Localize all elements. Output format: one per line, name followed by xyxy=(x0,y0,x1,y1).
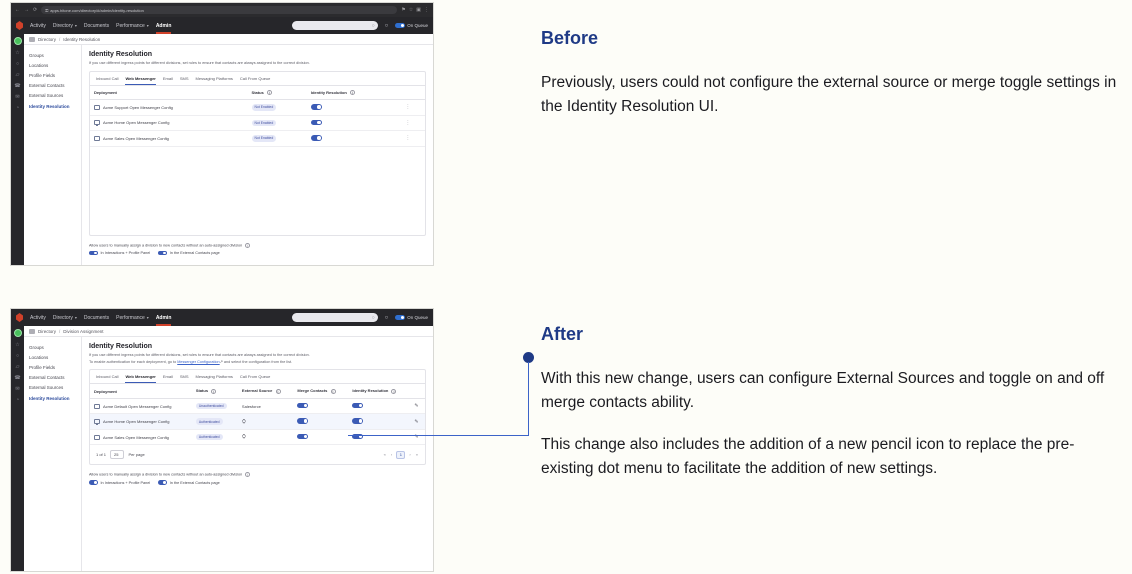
toggle-label: In the External Contacts page xyxy=(170,481,220,485)
external-source-value: Salesforce xyxy=(242,404,261,409)
first-page-button[interactable]: « xyxy=(383,452,387,457)
sidebar-item-identity-resolution[interactable]: Identity Resolution xyxy=(29,393,81,403)
chevron-down-icon: ▾ xyxy=(75,23,77,28)
breadcrumb-current: Division Assignment xyxy=(63,329,103,334)
deployment-cell: Acme Home Open Messenger Config xyxy=(94,419,188,424)
deployment-name: Acme Sales Open Messenger Config xyxy=(103,435,169,440)
app-logo-icon[interactable] xyxy=(16,21,23,30)
nav-label: Performance xyxy=(116,23,145,29)
external-source-icon: ⛭ xyxy=(242,419,246,425)
footer-note-text: Allow users to manually assign a divisio… xyxy=(89,472,426,477)
callout-line-horizontal xyxy=(348,435,529,436)
browser-forward-icon[interactable]: → xyxy=(24,8,29,13)
left-icon-rail-before: ☆ ○ ▱ ☎ ✉ ◔ xyxy=(11,34,24,265)
info-icon[interactable]: i xyxy=(211,389,216,394)
col-deployment: Deployment xyxy=(90,384,192,398)
sidebar-item-locations[interactable]: Locations xyxy=(29,352,81,362)
shield-icon[interactable]: ⚑ xyxy=(401,8,405,13)
folder-icon[interactable]: ▱ xyxy=(16,365,20,370)
circle-icon[interactable]: ○ xyxy=(16,354,19,359)
page-size-select[interactable]: 25 xyxy=(110,450,124,459)
sidebar-item-profile-fields[interactable]: Profile Fields xyxy=(29,70,81,80)
cell-merge-contacts xyxy=(293,398,348,414)
table-empty-space xyxy=(90,147,425,235)
breadcrumb-before: Directory / Identity Resolution xyxy=(24,34,433,45)
current-page-button[interactable]: 1 xyxy=(396,451,405,459)
identity-resolution-toggle[interactable] xyxy=(311,135,322,141)
cell-deployment: Acme Default Open Messenger Config xyxy=(90,398,192,414)
dot-menu-icon[interactable]: ⋮ xyxy=(405,104,410,110)
col-label: External Source xyxy=(242,388,272,393)
tab-email[interactable]: Email xyxy=(163,76,173,85)
globe-icon[interactable]: ◔ xyxy=(16,398,19,403)
status-badge: Authenticated xyxy=(196,418,223,424)
nav-label: Admin xyxy=(156,315,172,321)
table-row[interactable]: Acme Sales Open Messenger Config Not Ena… xyxy=(90,131,425,147)
presence-label: On Queue xyxy=(407,315,428,320)
info-icon[interactable]: i xyxy=(245,472,250,477)
sidebar-before: Groups Locations Profile Fields External… xyxy=(24,45,82,265)
after-heading: After xyxy=(541,324,1123,345)
messenger-icon xyxy=(94,419,100,424)
toggle-label: In Interactions + Profile Panel xyxy=(101,251,151,255)
before-heading: Before xyxy=(541,28,1123,49)
cell-external-source: Salesforce xyxy=(238,398,293,414)
col-label: Merge Contacts xyxy=(297,388,327,393)
callout-line-vertical xyxy=(528,362,529,436)
cell-status: Unauthenticated xyxy=(192,398,238,414)
dot-menu-icon[interactable]: ⋮ xyxy=(405,120,410,126)
main-before: Identity Resolution If you use different… xyxy=(82,45,433,265)
table-head: Deployment Status i Identity Resolution xyxy=(90,86,425,100)
sidebar-item-external-sources[interactable]: External Sources xyxy=(29,91,81,101)
chevron-down-icon: ▾ xyxy=(147,315,149,320)
sidebar-item-profile-fields[interactable]: Profile Fields xyxy=(29,362,81,372)
cell-deployment: Acme Sales Open Messenger Config xyxy=(90,429,192,445)
phone-icon[interactable]: ☎ xyxy=(14,376,20,381)
table-row[interactable]: Acme Home Open Messenger Config Not Enab… xyxy=(90,115,425,131)
col-status: Status i xyxy=(192,384,238,398)
col-status: Status i xyxy=(248,86,307,100)
deployment-cell: Acme Support Open Messenger Config xyxy=(94,105,244,110)
search-icon: ○ xyxy=(372,23,375,29)
messenger-icon xyxy=(94,105,100,110)
per-page-label: Per page xyxy=(128,452,144,457)
nav-item-documents[interactable]: Documents xyxy=(84,23,109,29)
nav-search-input[interactable]: ○ xyxy=(292,313,378,322)
slide-canvas: ← → ⟳ ⚿ apps.hitone.com/directory/#/admi… xyxy=(0,0,1132,574)
toggle-external-contacts-page[interactable]: In the External Contacts page xyxy=(158,480,220,485)
browser-toolbar-icons: ⚑ ☆ ▣ ⋮ xyxy=(401,8,429,13)
cell-deployment: Acme Home Open Messenger Config xyxy=(90,115,248,131)
avatar[interactable] xyxy=(14,329,22,337)
sidebar-item-external-contacts[interactable]: External Contacts xyxy=(29,373,81,383)
extension-icon[interactable]: ▣ xyxy=(416,8,421,13)
lower-before: Groups Locations Profile Fields External… xyxy=(24,45,433,265)
footer-note-text: Allow users to manually assign a divisio… xyxy=(89,243,426,248)
merge-contacts-toggle[interactable] xyxy=(297,434,308,440)
nav-label: Documents xyxy=(84,23,109,29)
messenger-icon xyxy=(94,435,100,440)
nav-search-input[interactable]: ○ xyxy=(292,21,378,30)
nav-label: Admin xyxy=(156,23,172,29)
desc-prefix: To enable authentication for each deploy… xyxy=(89,360,177,364)
message-icon[interactable]: ✉ xyxy=(15,95,19,100)
star-icon[interactable]: ☆ xyxy=(409,8,413,13)
status-badge: Not Enabled xyxy=(252,104,277,110)
browser-menu-icon[interactable]: ⋮ xyxy=(424,8,429,13)
tab-messaging-platforms[interactable]: Messaging Platforms xyxy=(196,374,233,383)
breadcrumb-after: Directory / Division Assignment xyxy=(24,326,433,337)
footer-toggle-row: In Interactions + Profile Panel In the E… xyxy=(89,480,426,485)
channel-tabs-before: Inbound Call Web Messenger Email SMS Mes… xyxy=(90,72,425,86)
star-icon[interactable]: ☆ xyxy=(15,51,19,56)
browser-address-bar[interactable]: ⚿ apps.hitone.com/directory/#/admin/iden… xyxy=(41,6,397,14)
info-icon[interactable]: i xyxy=(350,90,355,95)
grid-icon[interactable] xyxy=(29,37,35,42)
footer-note-after: Allow users to manually assign a divisio… xyxy=(89,472,426,485)
col-identity-resolution: Identity Resolution i xyxy=(307,86,402,100)
presence-status[interactable]: On Queue xyxy=(395,315,428,320)
tab-inbound-call[interactable]: Inbound Call xyxy=(96,374,118,383)
deployments-table-before: Deployment Status i Identity Resolution xyxy=(90,86,425,147)
deployment-cell: Acme Home Open Messenger Config xyxy=(94,120,244,125)
after-paragraph-2: This change also includes the addition o… xyxy=(541,433,1123,481)
status-badge: Authenticated xyxy=(196,434,223,440)
tab-web-messenger[interactable]: Web Messenger xyxy=(125,76,155,85)
globe-icon[interactable]: ◔ xyxy=(16,106,19,111)
nav-item-admin[interactable]: Admin xyxy=(156,315,172,321)
table-header-row: Deployment Status i Identity Resolution xyxy=(90,86,425,100)
cell-deployment: Acme Support Open Messenger Config xyxy=(90,100,248,116)
nav-label: Directory xyxy=(53,23,73,29)
desc-suffix: and select the configuration from the li… xyxy=(223,360,292,364)
sidebar-item-groups[interactable]: Groups xyxy=(29,342,81,352)
sidebar-item-external-contacts[interactable]: External Contacts xyxy=(29,81,81,91)
folder-icon[interactable]: ▱ xyxy=(16,73,20,78)
breadcrumb-root[interactable]: Directory xyxy=(38,329,56,334)
cell-status: Not Enabled xyxy=(248,115,307,131)
cell-external-source: ⛭ xyxy=(238,429,293,445)
status-badge: Unauthenticated xyxy=(196,403,227,409)
info-icon[interactable]: i xyxy=(267,90,272,95)
prev-page-button[interactable]: ‹ xyxy=(390,452,393,457)
notifications-bell-icon[interactable]: ○ xyxy=(385,315,389,321)
message-icon[interactable]: ✉ xyxy=(15,387,19,392)
toggle-interactions-profile-panel[interactable]: In Interactions + Profile Panel xyxy=(89,251,150,256)
sidebar-item-groups[interactable]: Groups xyxy=(29,50,81,60)
browser-url-text: apps.hitone.com/directory/#/admin/identi… xyxy=(50,8,144,13)
cell-identity-resolution xyxy=(307,131,402,147)
nav-item-performance[interactable]: Performance ▾ xyxy=(116,315,149,321)
cell-status: Authenticated xyxy=(192,429,238,445)
deployment-name: Acme Home Open Messenger Config xyxy=(103,120,169,125)
merge-contacts-toggle[interactable] xyxy=(297,403,308,409)
before-body: Previously, users could not configure th… xyxy=(541,71,1123,119)
col-label: Status xyxy=(252,90,264,95)
phone-icon[interactable]: ☎ xyxy=(14,84,20,89)
toggle-icon[interactable] xyxy=(89,480,98,485)
nav-item-admin[interactable]: Admin xyxy=(156,23,172,29)
nav-item-performance[interactable]: Performance ▾ xyxy=(116,23,149,29)
deployment-name: Acme Support Open Messenger Config xyxy=(103,105,173,110)
col-label: Deployment xyxy=(94,389,117,394)
toggle-icon[interactable] xyxy=(158,251,167,256)
toggle-external-contacts-page[interactable]: In the External Contacts page xyxy=(158,251,220,256)
deployment-cell: Acme Default Open Messenger Config xyxy=(94,404,188,409)
presence-label: On Queue xyxy=(407,23,428,28)
external-source-icon: ⛭ xyxy=(242,434,246,440)
breadcrumb-separator: / xyxy=(59,37,60,42)
nav-item-documents[interactable]: Documents xyxy=(84,315,109,321)
cell-deployment: Acme Sales Open Messenger Config xyxy=(90,131,248,147)
footer-toggle-row: In Interactions + Profile Panel In the E… xyxy=(89,251,426,256)
col-label: Status xyxy=(196,388,208,393)
identity-resolution-toggle[interactable] xyxy=(311,120,322,126)
nav-label: Performance xyxy=(116,315,145,321)
chevron-down-icon: ▾ xyxy=(75,315,77,320)
cell-status: Authenticated xyxy=(192,414,238,430)
nav-label: Documents xyxy=(84,315,109,321)
before-annotation: Before Previously, users could not confi… xyxy=(541,28,1123,137)
cell-identity-resolution xyxy=(307,100,402,116)
cell-external-source: ⛭ xyxy=(238,414,293,430)
grid-icon[interactable] xyxy=(29,329,35,334)
cell-status: Not Enabled xyxy=(248,131,307,147)
circle-icon[interactable]: ○ xyxy=(16,62,19,67)
toggle-label: In Interactions + Profile Panel xyxy=(101,481,151,485)
footer-note-label: Allow users to manually assign a divisio… xyxy=(89,473,242,477)
pagination-range: 1 of 1 xyxy=(96,452,106,457)
tab-call-from-queue[interactable]: Call From Queue xyxy=(240,374,270,383)
cell-merge-contacts xyxy=(293,414,348,430)
deployment-name: Acme Default Open Messenger Config xyxy=(103,404,171,409)
info-icon[interactable]: i xyxy=(276,389,281,394)
cell-deployment: Acme Home Open Messenger Config xyxy=(90,414,192,430)
toggle-label: In the External Contacts page xyxy=(170,251,220,255)
messenger-icon xyxy=(94,404,100,409)
toggle-interactions-profile-panel[interactable]: In Interactions + Profile Panel xyxy=(89,480,150,485)
pagination-bar: 1 of 1 25 Per page « ‹ 1 › » xyxy=(90,445,425,464)
info-icon[interactable]: i xyxy=(331,389,336,394)
dot-menu-icon[interactable]: ⋮ xyxy=(405,135,410,141)
nav-item-directory[interactable]: Directory ▾ xyxy=(53,23,77,29)
sidebar-after: Groups Locations Profile Fields External… xyxy=(24,337,82,571)
toggle-icon[interactable] xyxy=(89,251,98,256)
cell-actions: ⋮ xyxy=(401,100,425,116)
next-page-button[interactable]: › xyxy=(408,452,411,457)
messenger-icon xyxy=(94,136,100,141)
star-icon[interactable]: ☆ xyxy=(15,343,19,348)
after-annotation: After With this new change, users can co… xyxy=(541,324,1123,499)
presence-toggle-icon[interactable] xyxy=(395,23,405,28)
col-label: Identity Resolution xyxy=(311,90,347,95)
presence-toggle-icon[interactable] xyxy=(395,315,405,320)
nav-label: Directory xyxy=(53,315,73,321)
tab-web-messenger[interactable]: Web Messenger xyxy=(125,374,155,383)
col-merge-contacts: Merge Contacts i xyxy=(293,384,348,398)
tab-email[interactable]: Email xyxy=(163,374,173,383)
deployment-name: Acme Home Open Messenger Config xyxy=(103,419,169,424)
browser-chrome: ← → ⟳ ⚿ apps.hitone.com/directory/#/admi… xyxy=(11,3,433,17)
nav-item-activity[interactable]: Activity xyxy=(30,315,46,321)
breadcrumb-root[interactable]: Directory xyxy=(38,37,56,42)
messenger-icon xyxy=(94,120,100,125)
last-page-button[interactable]: » xyxy=(415,452,419,457)
nav-item-activity[interactable]: Activity xyxy=(30,23,46,29)
deployment-cell: Acme Sales Open Messenger Config xyxy=(94,136,244,141)
status-badge: Not Enabled xyxy=(252,120,277,126)
app-logo-icon[interactable] xyxy=(16,313,23,322)
content-before: Directory / Identity Resolution Groups L… xyxy=(24,34,433,265)
messenger-configuration-link[interactable]: Messenger Configuration xyxy=(177,360,219,364)
presence-status[interactable]: On Queue xyxy=(395,23,428,28)
page-title: Identity Resolution xyxy=(89,51,426,58)
top-nav-before: Activity Directory ▾ Documents Performan… xyxy=(11,17,433,34)
cell-actions: ⋮ xyxy=(401,131,425,147)
top-nav-after: Activity Directory ▾ Documents Performan… xyxy=(11,309,433,326)
page-title: Identity Resolution xyxy=(89,343,426,350)
cell-actions: ⋮ xyxy=(401,115,425,131)
tab-inbound-call[interactable]: Inbound Call xyxy=(96,76,118,85)
tab-sms[interactable]: SMS xyxy=(180,374,189,383)
sidebar-item-identity-resolution[interactable]: Identity Resolution xyxy=(29,101,81,111)
tab-call-from-queue[interactable]: Call From Queue xyxy=(240,76,270,85)
deployment-cell: Acme Sales Open Messenger Config xyxy=(94,435,188,440)
table-body: Acme Support Open Messenger Config Not E… xyxy=(90,100,425,147)
after-screenshot: Activity Directory ▾ Documents Performan… xyxy=(10,308,434,572)
before-screenshot: ← → ⟳ ⚿ apps.hitone.com/directory/#/admi… xyxy=(10,2,434,266)
merge-contacts-toggle[interactable] xyxy=(297,418,308,424)
identity-resolution-toggle[interactable] xyxy=(311,104,322,110)
nav-label: Activity xyxy=(30,23,46,29)
nav-item-directory[interactable]: Directory ▾ xyxy=(53,315,77,321)
nav-label: Activity xyxy=(30,315,46,321)
lock-icon: ⚿ xyxy=(45,8,48,13)
pagination-controls: « ‹ 1 › » xyxy=(383,451,419,459)
left-icon-rail-after: ☆ ○ ▱ ☎ ✉ ◔ xyxy=(11,326,24,571)
cell-status: Not Enabled xyxy=(248,100,307,116)
col-actions xyxy=(401,86,425,100)
browser-back-icon[interactable]: ← xyxy=(15,8,20,13)
deployment-name: Acme Sales Open Messenger Config xyxy=(103,136,169,141)
tab-sms[interactable]: SMS xyxy=(180,76,189,85)
status-badge: Not Enabled xyxy=(252,135,277,141)
table-row[interactable]: Acme Support Open Messenger Config Not E… xyxy=(90,100,425,116)
after-paragraph-1: With this new change, users can configur… xyxy=(541,367,1123,415)
app-body-before: ☆ ○ ▱ ☎ ✉ ◔ Directory / Identity Resolut… xyxy=(11,34,433,265)
col-external-source: External Source i xyxy=(238,384,293,398)
cell-merge-contacts xyxy=(293,429,348,445)
footer-note-before: Allow users to manually assign a divisio… xyxy=(89,243,426,256)
col-deployment: Deployment xyxy=(90,86,248,100)
search-icon: ○ xyxy=(372,315,375,321)
col-label: Deployment xyxy=(94,90,117,95)
tab-messaging-platforms[interactable]: Messaging Platforms xyxy=(196,76,233,85)
page-description-line-1: If you use different ingress points for … xyxy=(89,61,426,67)
callout-connector xyxy=(348,352,534,436)
sidebar-item-external-sources[interactable]: External Sources xyxy=(29,383,81,393)
notifications-bell-icon[interactable]: ○ xyxy=(385,23,389,29)
chevron-down-icon: ▾ xyxy=(147,23,149,28)
toggle-icon[interactable] xyxy=(158,480,167,485)
info-icon[interactable]: i xyxy=(245,243,250,248)
browser-reload-icon[interactable]: ⟳ xyxy=(33,8,37,13)
breadcrumb-separator: / xyxy=(59,329,60,334)
identity-panel-before: Inbound Call Web Messenger Email SMS Mes… xyxy=(89,71,426,236)
footer-note-label: Allow users to manually assign a divisio… xyxy=(89,243,242,247)
avatar[interactable] xyxy=(14,37,22,45)
sidebar-item-locations[interactable]: Locations xyxy=(29,60,81,70)
cell-identity-resolution xyxy=(307,115,402,131)
breadcrumb-current: Identity Resolution xyxy=(63,37,100,42)
